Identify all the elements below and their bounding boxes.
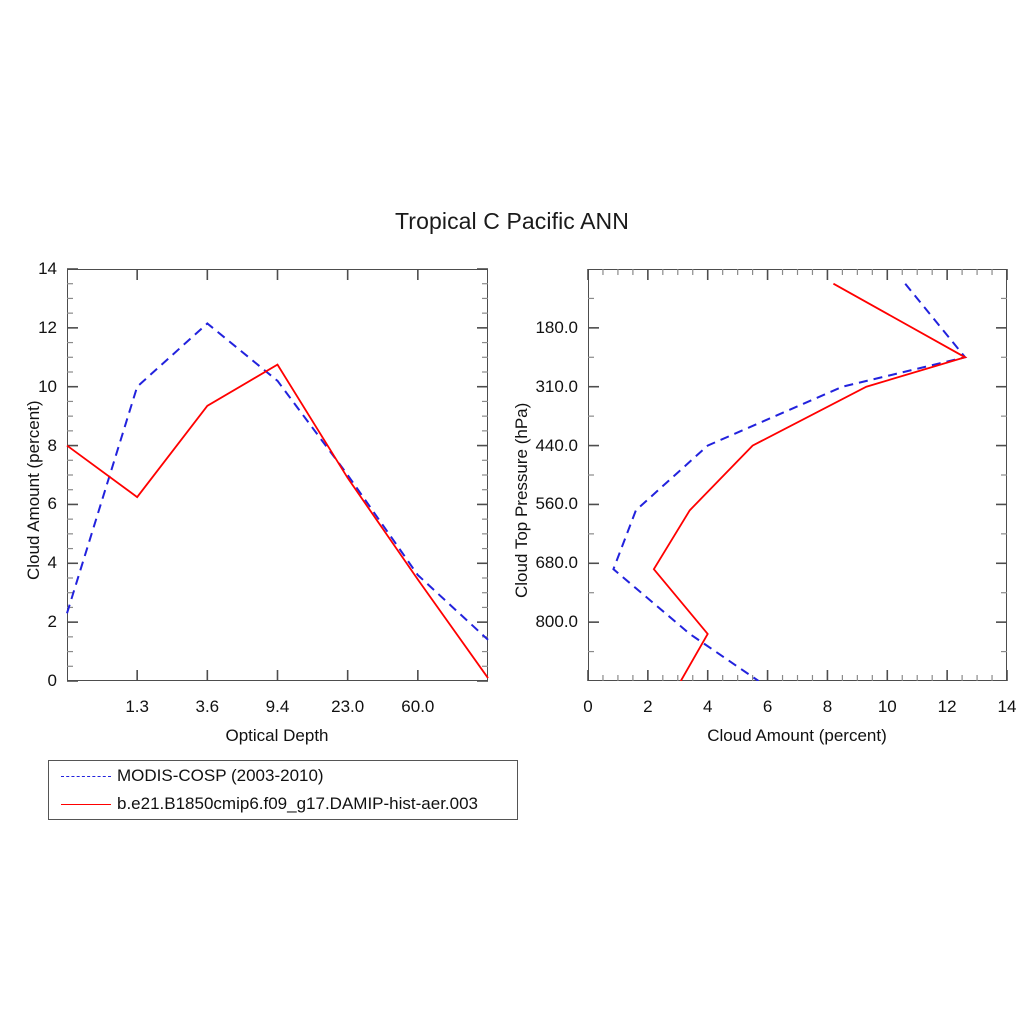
legend-item-model[interactable]: b.e21.B1850cmip6.f09_g17.DAMIP-hist-aer.… (49, 789, 517, 819)
legend-item-obs[interactable]: MODIS-COSP (2003-2010) (49, 761, 517, 791)
tick-label: 12 (938, 697, 957, 717)
tick-label: 14 (7, 259, 57, 279)
legend: MODIS-COSP (2003-2010) b.e21.B1850cmip6.… (48, 760, 518, 820)
tick-label: 12 (7, 318, 57, 338)
tick-label: 440.0 (488, 436, 578, 456)
legend-line-obs (61, 776, 111, 777)
tick-label: 23.0 (331, 697, 364, 717)
plot-area-left (67, 269, 488, 681)
legend-label-model: b.e21.B1850cmip6.f09_g17.DAMIP-hist-aer.… (117, 794, 478, 814)
tick-label: 8 (823, 697, 832, 717)
legend-swatch-model (61, 797, 111, 811)
axis-title-x-right: Cloud Amount (percent) (707, 726, 887, 746)
chart-panel-optical-depth (67, 269, 488, 681)
tick-label: 0 (7, 671, 57, 691)
legend-line-model (61, 804, 111, 805)
tick-label: 2 (7, 612, 57, 632)
series-line (654, 284, 965, 681)
tick-label: 10 (7, 377, 57, 397)
tick-label: 800.0 (488, 612, 578, 632)
legend-swatch-obs (61, 769, 111, 783)
tick-label: 1.3 (125, 697, 149, 717)
tick-label: 2 (643, 697, 652, 717)
plot-area-right (588, 269, 1007, 681)
page-title: Tropical C Pacific ANN (0, 208, 1024, 235)
tick-label: 9.4 (266, 697, 290, 717)
tick-label: 14 (998, 697, 1017, 717)
chart-panel-cloud-top-pressure (588, 269, 1007, 681)
tick-label: 6 (763, 697, 772, 717)
series-line (613, 284, 965, 681)
axis-title-x-left: Optical Depth (226, 726, 329, 746)
tick-label: 4 (703, 697, 712, 717)
tick-label: 3.6 (196, 697, 220, 717)
tick-label: 10 (878, 697, 897, 717)
legend-label-obs: MODIS-COSP (2003-2010) (117, 766, 324, 786)
tick-label: 60.0 (401, 697, 434, 717)
axis-title-y-left: Cloud Amount (percent) (24, 400, 44, 580)
tick-label: 680.0 (488, 553, 578, 573)
tick-label: 310.0 (488, 377, 578, 397)
tick-label: 0 (583, 697, 592, 717)
tick-label: 180.0 (488, 318, 578, 338)
tick-label: 560.0 (488, 494, 578, 514)
axis-title-y-right: Cloud Top Pressure (hPa) (512, 403, 532, 598)
series-line (67, 323, 488, 639)
